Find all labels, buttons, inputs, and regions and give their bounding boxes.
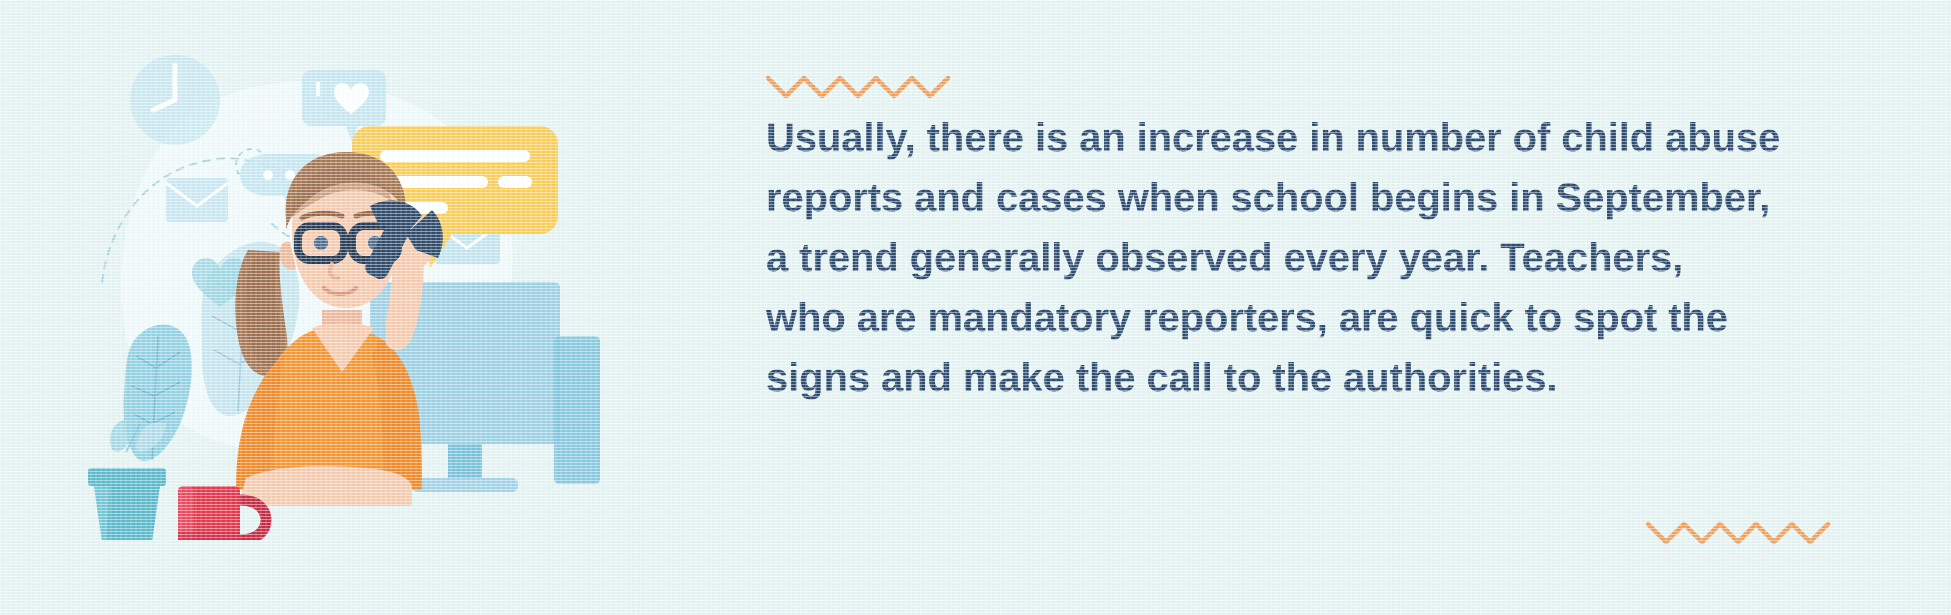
potted-plant <box>88 418 166 540</box>
banner: Usually, there is an increase in number … <box>0 0 1951 615</box>
clock-icon <box>130 55 220 145</box>
quote-line-5: signs and make the call to the authoriti… <box>766 348 1896 408</box>
quote-block: Usually, there is an increase in number … <box>766 108 1896 408</box>
quote-line-2: reports and cases when school begins in … <box>766 168 1896 228</box>
quote-line-1: Usually, there is an increase in number … <box>766 108 1896 168</box>
envelope-icon-upper <box>166 178 228 222</box>
zigzag-divider-bottom <box>1646 518 1840 546</box>
quote-line-3: a trend generally observed every year. T… <box>766 228 1896 288</box>
zigzag-divider-top <box>766 72 956 100</box>
illustration-woman-at-desk <box>40 20 600 540</box>
quote-line-4: who are mandatory reporters, are quick t… <box>766 288 1896 348</box>
